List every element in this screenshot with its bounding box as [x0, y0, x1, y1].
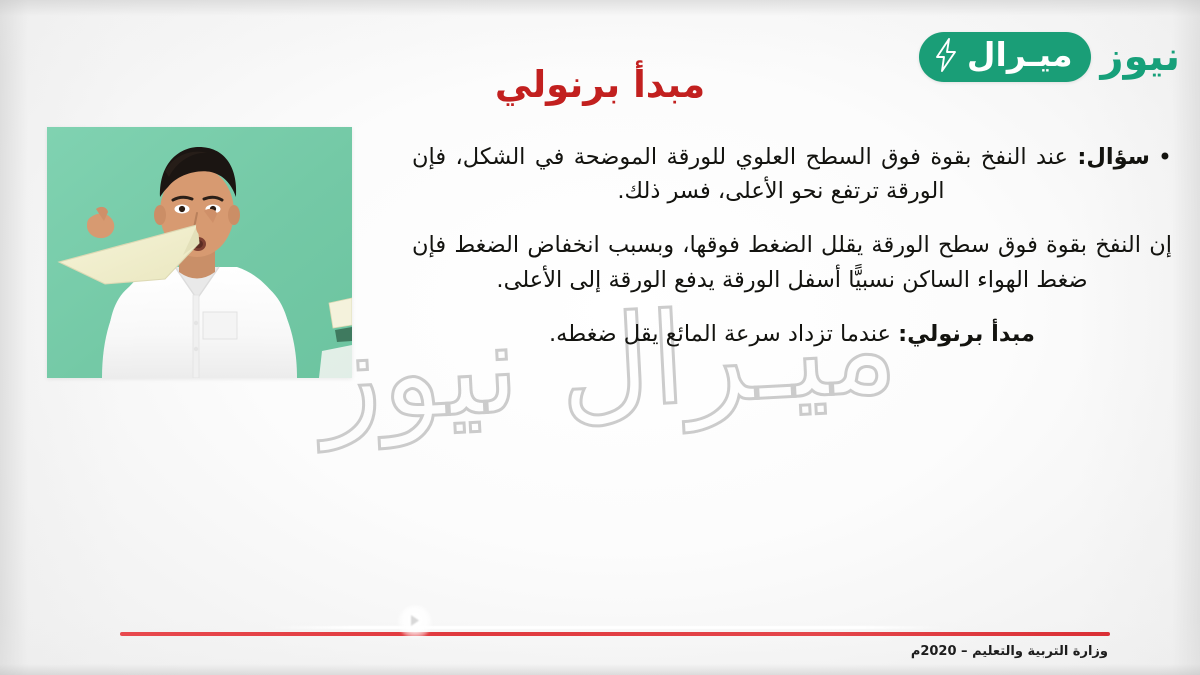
brand-logo-word: نيوز — [1101, 37, 1180, 77]
brand-logo-pill: ميـرال — [919, 32, 1091, 82]
footer-rule[interactable] — [120, 632, 1110, 636]
footer-rule-highlight — [268, 626, 948, 629]
play-marker-icon — [410, 614, 421, 627]
definition-body: عندما تزداد سرعة المائع يقل ضغطه. — [549, 321, 898, 347]
question-body: عند النفخ بقوة فوق السطح العلوي للورقة ا… — [412, 144, 1077, 204]
brand-logo-pill-label: ميـرال — [967, 37, 1073, 73]
definition-paragraph: مبدأ برنولي: عندما تزداد سرعة المائع يقل… — [412, 317, 1172, 351]
lightning-bolt-icon — [933, 38, 959, 72]
slide-canvas: نيوز ميـرال مبدأ برنولي — [0, 0, 1200, 675]
question-text-wrap: سؤال: عند النفخ بقوة فوق السطح العلوي لل… — [412, 140, 1150, 208]
explanation-paragraph: إن النفخ بقوة فوق سطح الورقة يقلل الضغط … — [412, 228, 1172, 298]
question-paragraph: • سؤال: عند النفخ بقوة فوق السطح العلوي … — [412, 140, 1172, 208]
brand-logo[interactable]: نيوز ميـرال — [919, 32, 1180, 82]
question-label: سؤال: — [1077, 144, 1149, 170]
definition-label: مبدأ برنولي: — [898, 321, 1035, 347]
student-blowing-over-paper-illustration — [47, 127, 352, 378]
lesson-photo — [47, 127, 352, 378]
bullet-glyph: • — [1158, 140, 1172, 175]
footer-credit: وزارة التربية والتعليم – 2020م — [911, 644, 1108, 659]
lesson-content: • سؤال: عند النفخ بقوة فوق السطح العلوي … — [412, 140, 1172, 351]
